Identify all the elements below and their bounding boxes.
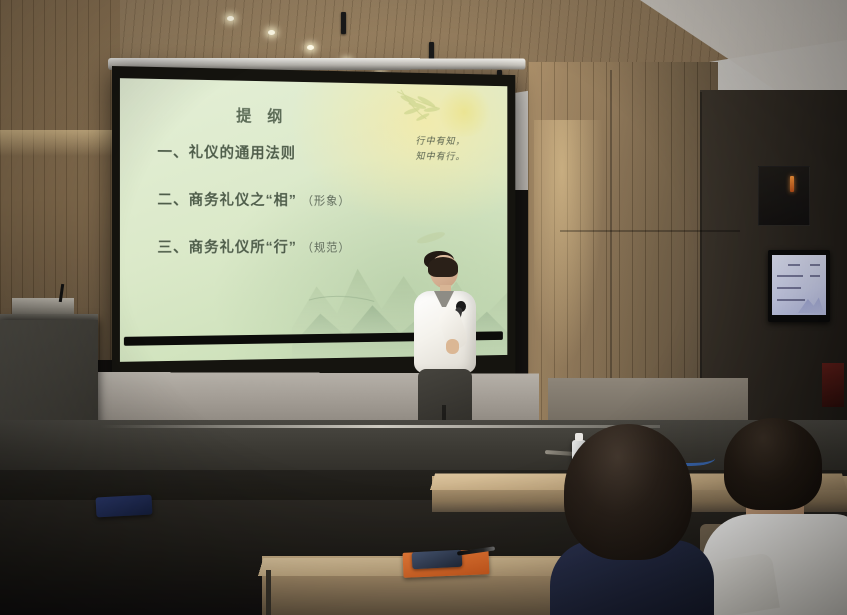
speaker-indicator-led — [790, 176, 794, 192]
confidence-monitor — [768, 250, 830, 322]
monitor-text-line — [810, 275, 820, 277]
attendee-man — [706, 418, 847, 615]
slide-item-note: （形象） — [302, 194, 351, 208]
calligraphy-line-2: 知中有行。 — [416, 149, 486, 165]
presenter-hair — [428, 257, 458, 277]
slide-item-text: 商务礼仪之“相” — [189, 191, 297, 208]
loudspeaker-icon — [758, 166, 810, 226]
attendee-woman — [556, 424, 706, 615]
slide-item-number: 二、 — [157, 191, 188, 208]
monitor-text-line — [788, 264, 800, 266]
smartphone — [412, 550, 463, 570]
wall-seam — [560, 230, 740, 232]
monitor-text-line — [777, 287, 801, 289]
slide-item-text: 商务礼仪所“行” — [189, 239, 297, 256]
navy-bag — [96, 495, 153, 518]
slide-item-number: 一、 — [157, 144, 188, 161]
monitor-text-line — [810, 264, 820, 266]
table-leg — [266, 570, 271, 615]
downlight-icon — [227, 16, 234, 21]
attendee-woman-hair — [564, 424, 692, 560]
calligraphy-block: 行中有知， 知中有行。 — [416, 134, 486, 164]
track-spotlight-icon — [341, 12, 346, 34]
monitor-text-line — [777, 299, 805, 301]
slide-item-text: 礼仪的通用法则 — [189, 144, 296, 162]
auditorium-photo: 提 纲 一、礼仪的通用法则 二、商务礼仪之“相” （形象） 三、商务礼仪所“行”… — [0, 0, 847, 615]
slide-list-item: 二、商务礼仪之“相” （形象） — [157, 188, 489, 210]
downlight-icon — [268, 30, 275, 35]
cove-light-glow — [534, 120, 604, 370]
monitor-text-line — [777, 275, 803, 277]
presenter-hand — [446, 339, 459, 354]
monitor-screen — [772, 255, 826, 315]
attendee-man-hair — [724, 418, 822, 510]
downlight-icon — [307, 45, 314, 50]
red-object — [822, 363, 844, 407]
slide-item-number: 三、 — [157, 239, 188, 256]
calligraphy-line-1: 行中有知， — [416, 134, 486, 150]
monitor-graphic — [798, 295, 824, 313]
